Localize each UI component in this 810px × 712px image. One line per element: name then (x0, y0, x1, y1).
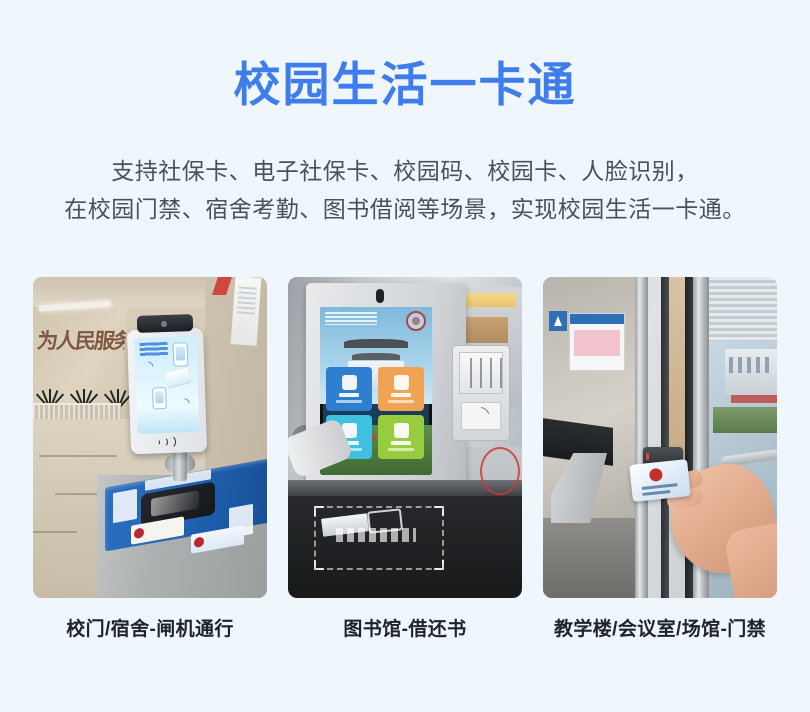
door-seal-strip (661, 277, 669, 598)
terminal-phone-illustration-1 (173, 342, 189, 367)
interior-bench (551, 453, 607, 523)
kiosk-camera (376, 289, 384, 303)
page-title: 校园生活一卡通 (0, 56, 810, 114)
photo-access-control (543, 277, 777, 598)
kiosk-tile-renew[interactable] (378, 415, 424, 459)
library-seal-icon (406, 311, 426, 331)
book-zone-label (336, 528, 416, 542)
shelf-sign (462, 293, 516, 307)
door-mullion-left (635, 277, 648, 598)
kiosk-instruction-slot (459, 352, 503, 394)
social-security-card[interactable] (629, 459, 691, 502)
scenario-card-gate-pass[interactable]: 为人民服务 (33, 277, 267, 641)
red-highlight-circle (480, 447, 520, 495)
window-blinds (709, 277, 777, 341)
kiosk-tile-return[interactable] (378, 367, 424, 411)
turnstile-label-left (113, 489, 137, 523)
outdoor-red-awning (731, 395, 777, 403)
caption-library: 图书馆-借还书 (288, 614, 522, 641)
kiosk-card-reader-area[interactable] (461, 402, 501, 430)
scenario-card-access-control[interactable]: 教学楼/会议室/场馆-门禁 (543, 277, 777, 641)
photo-library-kiosk: ❮ (288, 277, 522, 598)
nfc-wave-icon-small-2 (178, 396, 192, 410)
outdoor-hedge (713, 407, 777, 433)
interior-floor (543, 518, 639, 598)
national-emblem-icon (649, 468, 663, 482)
photo-gate-pass: 为人民服务 (33, 277, 267, 598)
kiosk-tile-borrow[interactable] (326, 367, 372, 411)
scenario-card-library[interactable]: ❮ (288, 277, 522, 641)
kiosk-screen-heading (325, 312, 377, 325)
nfc-wave-icon-small (141, 360, 155, 374)
reader-status-led (646, 453, 649, 460)
cardboard-box (466, 317, 508, 343)
nfc-icon (153, 434, 182, 451)
wall-calligraphy: 为人民服务 (35, 325, 127, 359)
door-interior-view (543, 277, 639, 598)
page-subtitle: 支持社保卡、电子社保卡、校园码、校园卡、人脸识别， 在校园门禁、宿舍考勤、图书借… (0, 152, 810, 228)
terminal-card-illustration (164, 368, 191, 387)
page-root: 校园生活一卡通 支持社保卡、电子社保卡、校园码、校园卡、人脸识别， 在校园门禁、… (0, 0, 810, 712)
wall-poster (569, 313, 625, 371)
kiosk-side-panel (452, 345, 510, 441)
subtitle-line-2: 在校园门禁、宿舍考勤、图书借阅等场景，实现校园生活一卡通。 (0, 190, 810, 228)
scenario-card-list: 为人民服务 (33, 277, 777, 641)
caption-gate-pass: 校门/宿舍-闸机通行 (33, 614, 267, 641)
subtitle-line-1: 支持社保卡、电子社保卡、校园码、校园卡、人脸识别， (0, 152, 810, 190)
direction-sign-icon (549, 311, 567, 331)
terminal-camera (137, 314, 194, 333)
terminal-phone-illustration-2 (152, 387, 167, 409)
terminal-screen-title (140, 342, 168, 357)
outdoor-building (725, 349, 777, 395)
hanging-banner (231, 277, 262, 346)
caption-access-control: 教学楼/会议室/场馆-门禁 (543, 614, 777, 641)
terminal-screen[interactable] (134, 336, 199, 434)
kiosk-counter (288, 480, 522, 598)
